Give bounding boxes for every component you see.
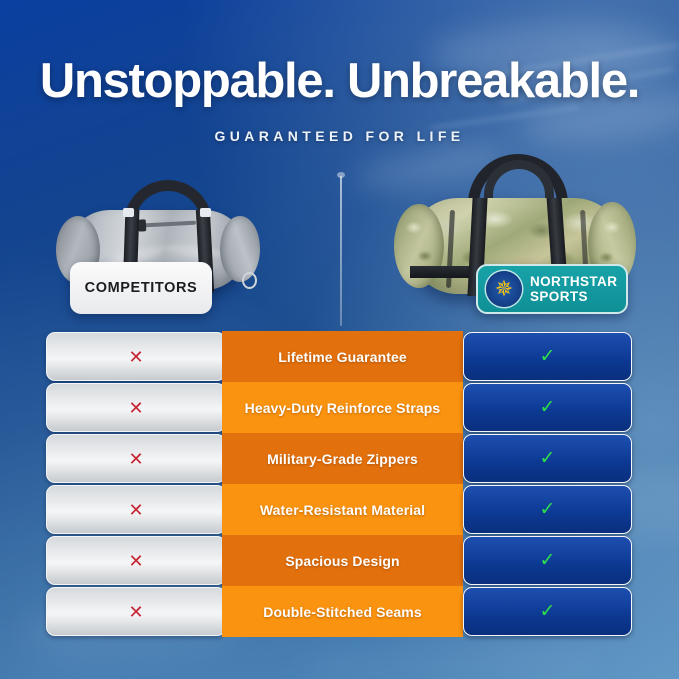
northstar-cell: ✓ [463,485,632,534]
star-burst: ✵ [493,278,515,300]
vertical-divider [340,176,342,326]
page-title: Unstoppable. Unbreakable. [0,56,679,107]
feature-cell: Military-Grade Zippers [222,433,463,484]
northstar-cell: ✓ [463,587,632,636]
feature-label: Lifetime Guarantee [278,349,407,365]
northstar-cell: ✓ [463,536,632,585]
check-icon: ✓ [540,602,556,621]
bag-fold [163,243,228,260]
brand-name-line2: SPORTS [530,289,617,304]
check-icon: ✓ [540,500,556,519]
strap-tip [200,208,211,217]
product-comparison-infographic: Unstoppable. Unbreakable. GUARANTEED FOR… [0,0,679,679]
check-icon: ✓ [540,551,556,570]
competitor-cell: ✕ [46,485,226,534]
brand-name-line1: NORTHSTAR [530,274,617,289]
feature-label: Military-Grade Zippers [267,451,418,467]
feature-label: Spacious Design [285,553,399,569]
table-row: ✕ Water-Resistant Material ✓ [0,485,679,534]
northstar-cell: ✓ [463,332,632,381]
competitor-cell: ✕ [46,536,226,585]
table-row: ✕ Lifetime Guarantee ✓ [0,332,679,381]
check-icon: ✓ [540,449,556,468]
strap-tip [123,208,134,217]
cross-icon: ✕ [128,603,143,621]
page-subtitle: GUARANTEED FOR LIFE [0,128,679,144]
northstar-cell: ✓ [463,434,632,483]
table-row: ✕ Heavy-Duty Reinforce Straps ✓ [0,383,679,432]
cloud-decoration [300,640,600,679]
check-icon: ✓ [540,398,556,417]
feature-label: Double-Stitched Seams [263,604,421,620]
cross-icon: ✕ [128,501,143,519]
bag-end-cap [220,216,260,282]
northstar-cell: ✓ [463,383,632,432]
competitor-cell: ✕ [46,383,226,432]
bag-d-ring [242,272,257,289]
brand-name: NORTHSTAR SPORTS [530,274,617,304]
cross-icon: ✕ [128,348,143,366]
table-row: ✕ Military-Grade Zippers ✓ [0,434,679,483]
compass-star-icon: ✵ [486,271,522,307]
feature-cell: Lifetime Guarantee [222,331,463,382]
feature-label: Water-Resistant Material [260,502,425,518]
feature-cell: Heavy-Duty Reinforce Straps [222,382,463,433]
table-row: ✕ Double-Stitched Seams ✓ [0,587,679,636]
table-row: ✕ Spacious Design ✓ [0,536,679,585]
northstar-brand-badge: ✵ NORTHSTAR SPORTS [476,264,628,314]
cross-icon: ✕ [128,399,143,417]
feature-cell: Spacious Design [222,535,463,586]
feature-cell: Double-Stitched Seams [222,586,463,637]
feature-cell: Water-Resistant Material [222,484,463,535]
competitors-label-text: COMPETITORS [85,280,198,296]
competitors-label: COMPETITORS [70,262,212,314]
feature-label: Heavy-Duty Reinforce Straps [245,400,441,416]
comparison-table: ✕ Lifetime Guarantee ✓ ✕ Heavy-Duty Rein… [0,332,679,638]
check-icon: ✓ [540,347,556,366]
cross-icon: ✕ [128,450,143,468]
cross-icon: ✕ [128,552,143,570]
competitor-cell: ✕ [46,332,226,381]
competitor-cell: ✕ [46,587,226,636]
competitor-cell: ✕ [46,434,226,483]
